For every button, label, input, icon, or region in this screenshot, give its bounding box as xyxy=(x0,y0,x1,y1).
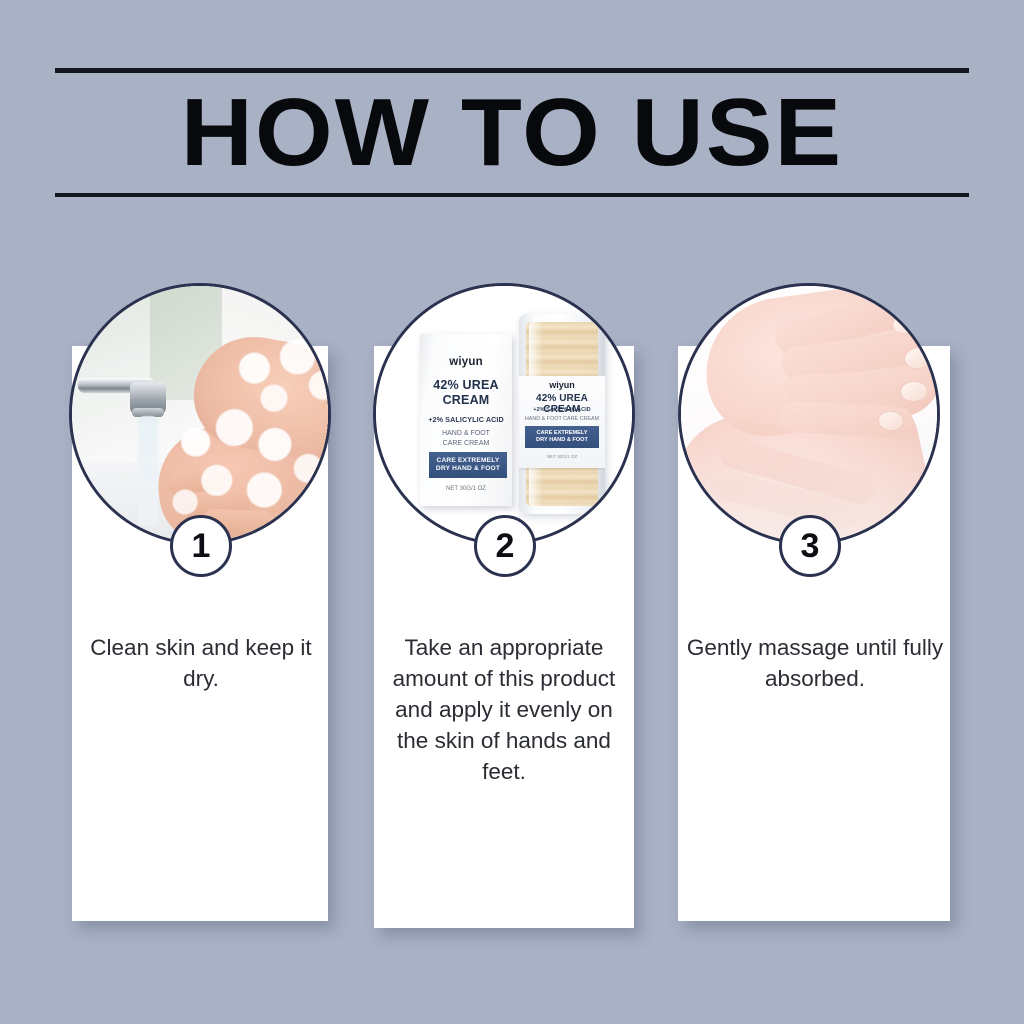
product-descriptor-line-2: CARE CREAM xyxy=(420,439,512,449)
page-header: HOW TO USE xyxy=(55,68,969,197)
stick-brand-label: wiyun xyxy=(519,380,605,390)
steps-container: 1 Clean skin and keep it dry. wiyun 42% … xyxy=(0,283,1024,983)
product-title-line-1: 42% UREA xyxy=(420,378,512,393)
stick-band-line-2: DRY HAND & FOOT xyxy=(536,437,588,443)
hands-massaging-cream-photo xyxy=(681,286,937,542)
product-box: wiyun 42% UREA CREAM +2% SALICYLIC ACID … xyxy=(420,334,512,506)
header-rule-bottom xyxy=(55,193,969,197)
product-descriptor-label: HAND & FOOT CARE CREAM xyxy=(420,429,512,448)
step-1-photo-circle xyxy=(69,283,331,545)
step-number-badge-2: 2 xyxy=(474,515,536,577)
product-subtitle-label: +2% SALICYLIC ACID xyxy=(420,415,512,424)
stick-net-weight-label: NET 30G/1 OZ xyxy=(519,454,605,459)
water-stream-shape xyxy=(138,416,158,526)
stick-blue-band: CARE EXTREMELY DRY HAND & FOOT xyxy=(525,426,599,448)
stick-band-text: CARE EXTREMELY DRY HAND & FOOT xyxy=(536,430,588,445)
step-3-photo-circle xyxy=(678,283,940,545)
product-blue-band: CARE EXTREMELY DRY HAND & FOOT xyxy=(429,452,507,478)
product-net-weight-label: NET 30G/1 OZ xyxy=(420,486,512,492)
step-number-badge-1: 1 xyxy=(170,515,232,577)
product-brand-label: wiyun xyxy=(420,356,512,368)
header-rule-top xyxy=(55,68,969,73)
step-caption-3: Gently massage until fully absorbed. xyxy=(682,632,948,694)
step-caption-1: Clean skin and keep it dry. xyxy=(76,632,326,694)
page-title: HOW TO USE xyxy=(37,77,988,189)
soap-foam-shape xyxy=(164,406,328,526)
step-number-badge-3: 3 xyxy=(779,515,841,577)
product-band-text: CARE EXTREMELY DRY HAND & FOOT xyxy=(436,457,500,474)
stick-descriptor-label: HAND & FOOT CARE CREAM xyxy=(519,416,605,422)
stick-band-line-1: CARE EXTREMELY xyxy=(536,430,587,436)
product-descriptor-line-1: HAND & FOOT xyxy=(420,429,512,439)
washing-hands-with-soap-photo xyxy=(72,286,328,542)
product-stick-container: wiyun 42% UREA CREAM +2% SALICYLIC ACID … xyxy=(519,314,605,514)
soap-foam-shape-top xyxy=(222,338,328,424)
product-band-line-1: CARE EXTREMELY xyxy=(436,457,499,464)
product-box-and-stick-photo: wiyun 42% UREA CREAM +2% SALICYLIC ACID … xyxy=(376,286,632,542)
stick-label: wiyun 42% UREA CREAM +2% SALICYLIC ACID … xyxy=(519,376,605,468)
stick-subtitle-label: +2% SALICYLIC ACID xyxy=(519,407,605,413)
product-band-line-2: DRY HAND & FOOT xyxy=(436,465,500,472)
product-title-line-2: CREAM xyxy=(420,393,512,408)
product-title-label: 42% UREA CREAM xyxy=(420,378,512,408)
step-2-photo-circle: wiyun 42% UREA CREAM +2% SALICYLIC ACID … xyxy=(373,283,635,545)
step-caption-2: Take an appropriate amount of this produ… xyxy=(377,632,631,787)
